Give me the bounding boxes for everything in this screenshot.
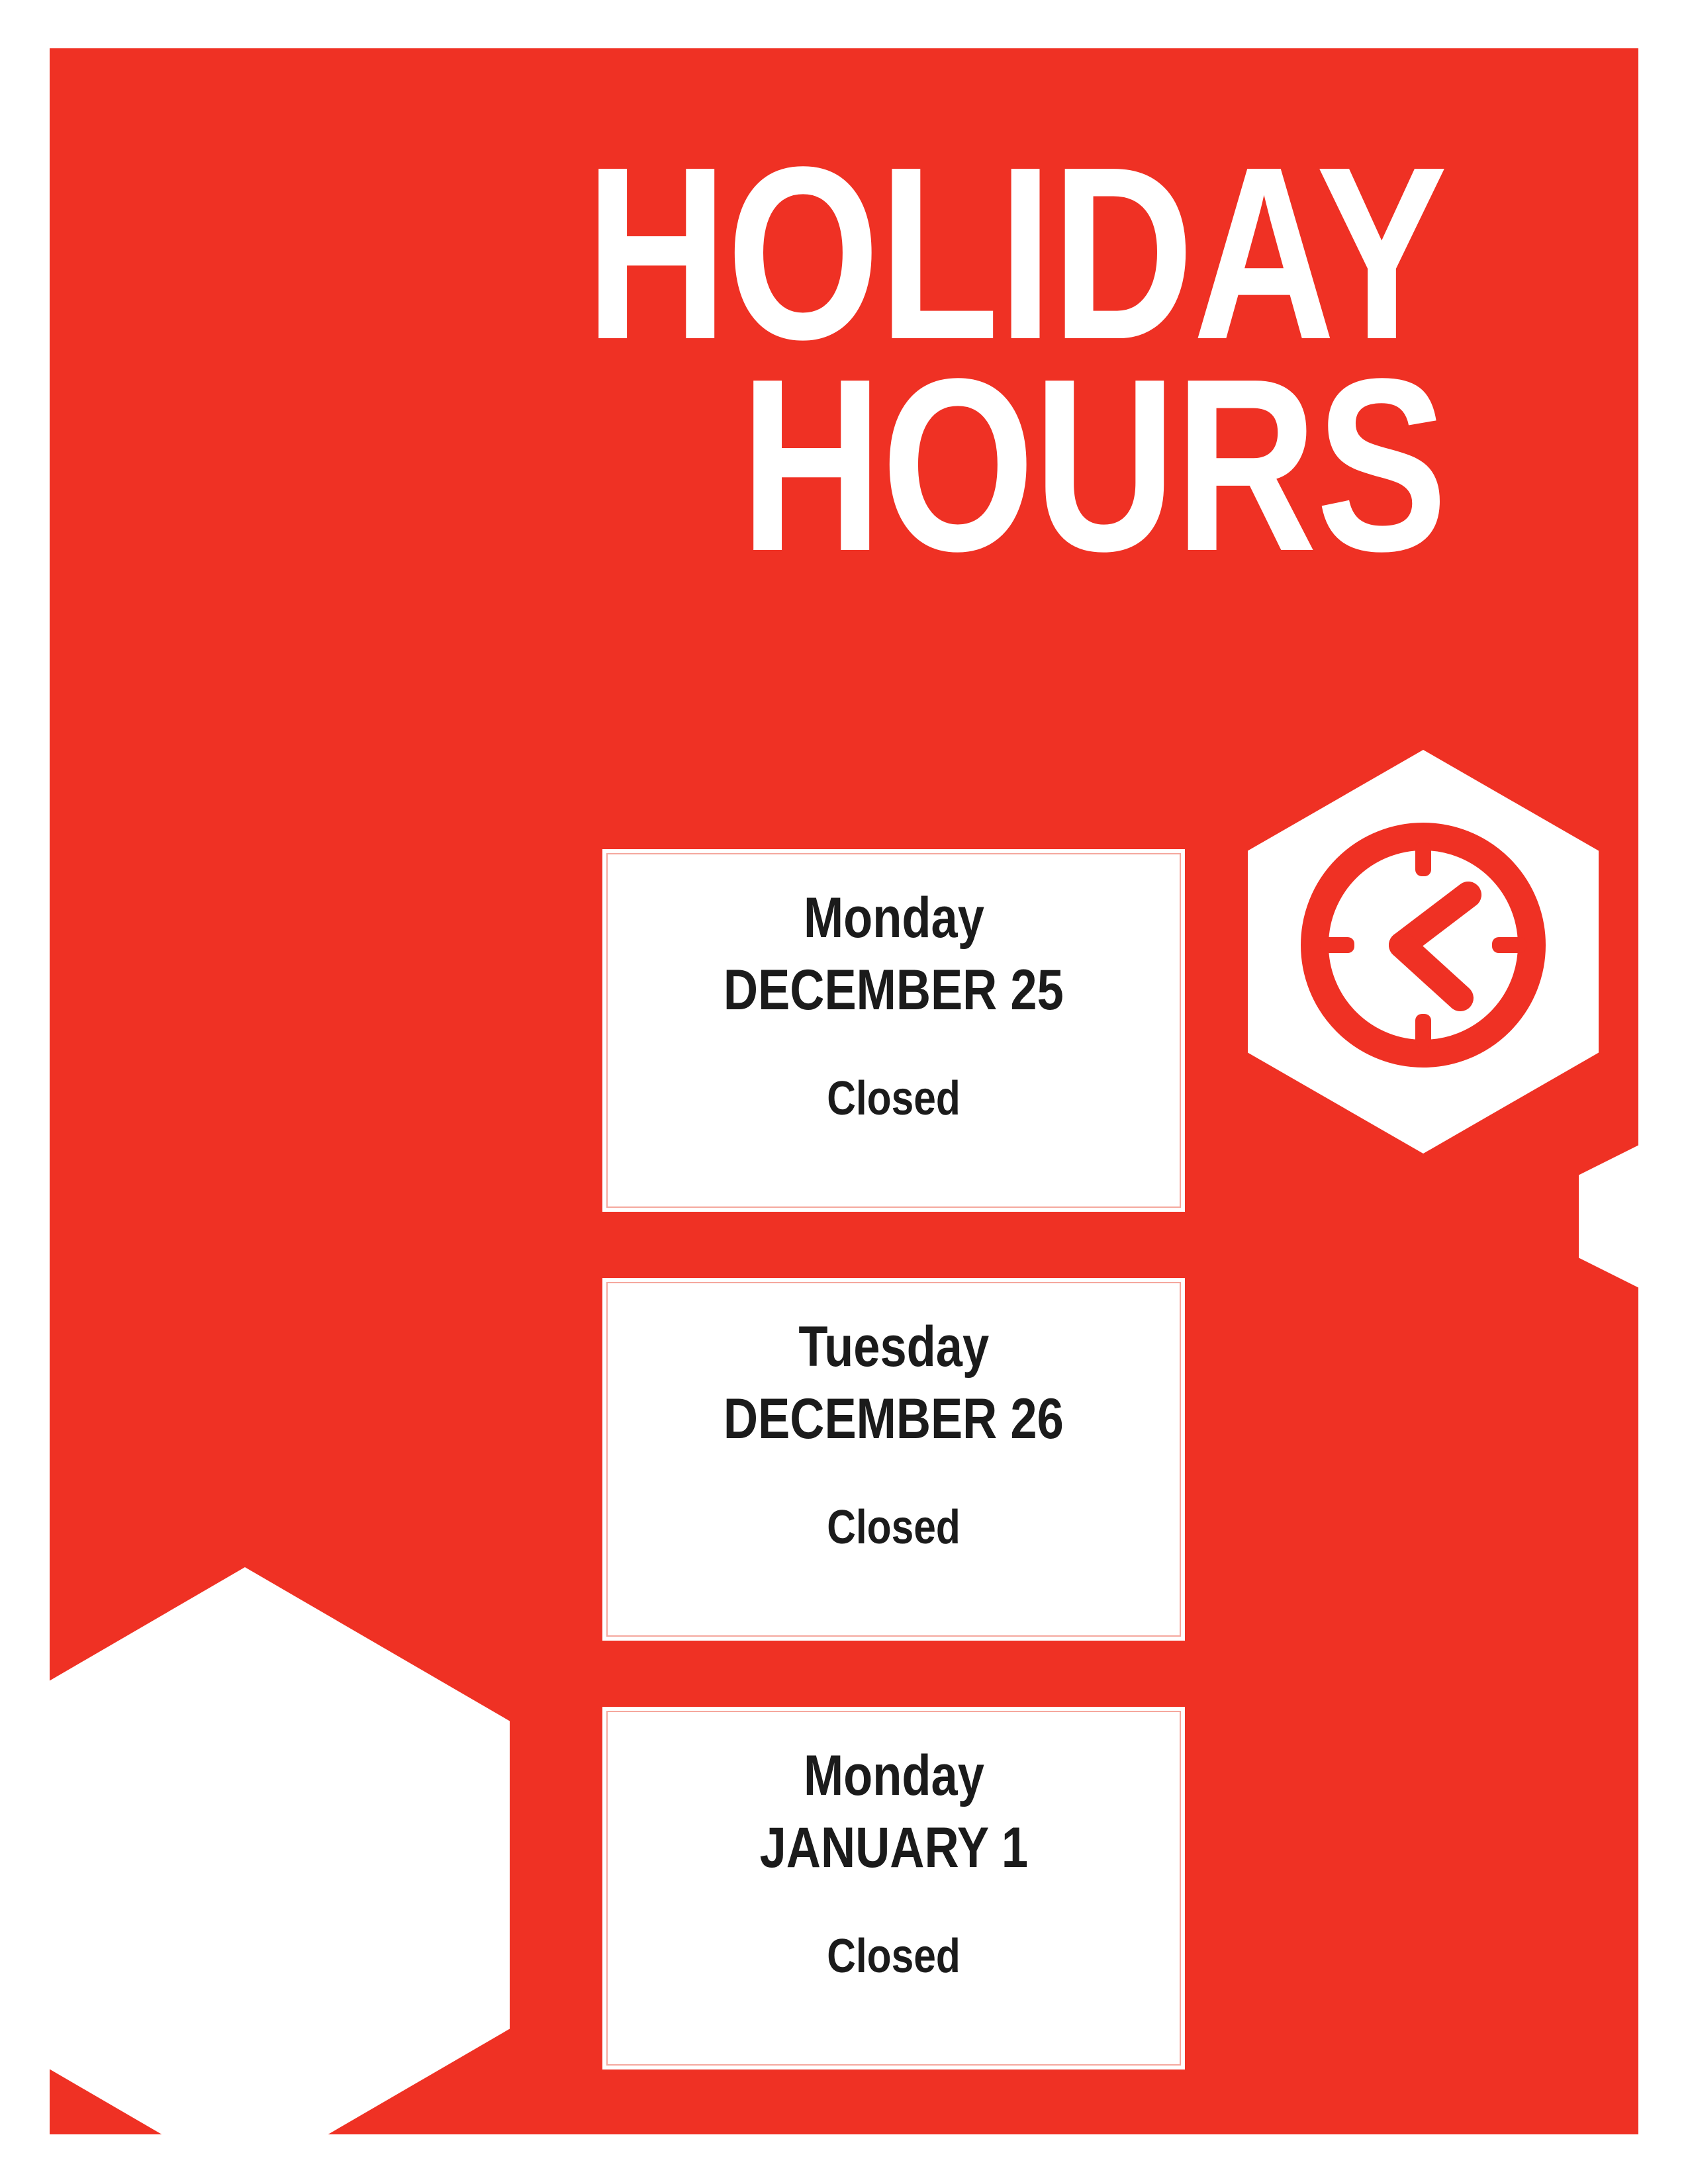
card-date-label: JANUARY 1 [759, 1817, 1027, 1879]
title-line-hours: HOURS [424, 359, 1446, 571]
clock-icon [1291, 813, 1556, 1077]
card-status-label: Closed [827, 1931, 961, 1983]
card-date-label: DECEMBER 25 [724, 960, 1064, 1021]
poster-red-panel: HOLIDAY HOURS [50, 48, 1638, 2134]
holiday-card: Monday JANUARY 1 Closed [602, 1707, 1185, 2070]
card-day-label: Monday [804, 1745, 984, 1807]
card-day-label: Tuesday [798, 1316, 989, 1378]
holiday-card: Tuesday DECEMBER 26 Closed [602, 1278, 1185, 1641]
card-status-label: Closed [827, 1073, 961, 1125]
bottom-left-hexagon-shape [50, 1567, 510, 2134]
card-day-label: Monday [804, 887, 984, 949]
page-title: HOLIDAY HOURS [424, 148, 1446, 571]
card-date-label: DECEMBER 26 [724, 1388, 1064, 1450]
holiday-card-list: Monday DECEMBER 25 Closed Tuesday DECEMB… [602, 849, 1185, 2134]
holiday-card: Monday DECEMBER 25 Closed [602, 849, 1185, 1212]
card-status-label: Closed [827, 1502, 961, 1554]
small-hexagon-shape [1579, 1134, 1638, 1299]
holiday-hours-poster: HOLIDAY HOURS [0, 0, 1688, 2184]
